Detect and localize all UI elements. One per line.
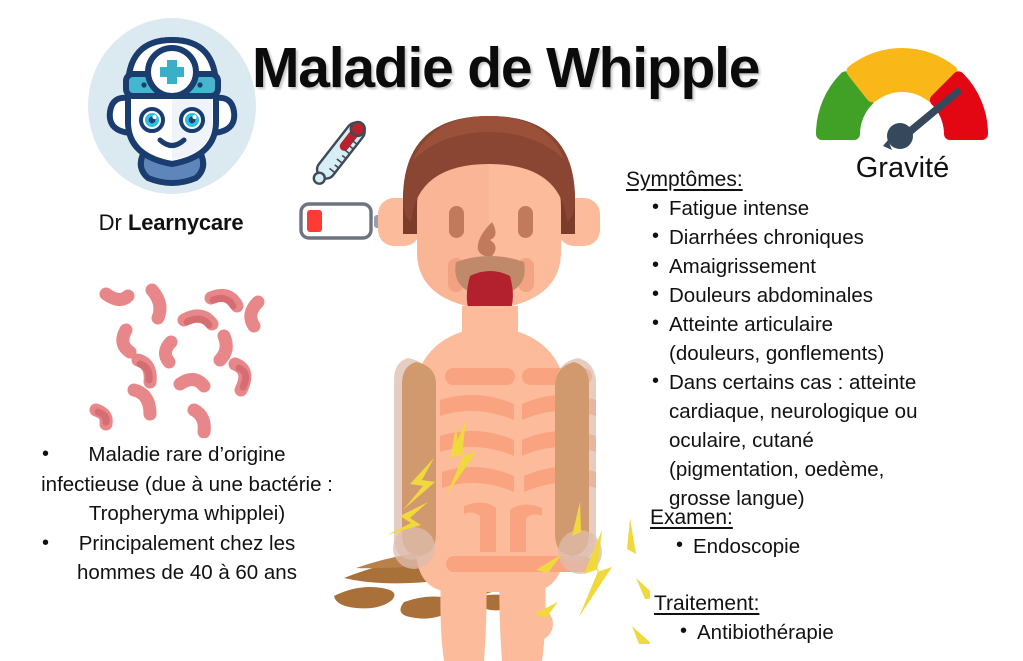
traitement-list: Antibiothérapie — [654, 618, 964, 647]
infographic-page: Dr Learnycare Maladie de Whipple Gravité — [0, 0, 1023, 661]
examen-list: Endoscopie — [650, 532, 950, 561]
symptoms-list: Fatigue intense Diarrhées chroniques Ama… — [626, 194, 926, 513]
brand-title: Learnycare — [128, 210, 243, 235]
examen-section: Examen: Endoscopie — [650, 506, 950, 561]
list-item: Diarrhées chroniques — [652, 223, 926, 252]
list-item: Atteinte articulaire (douleurs, gonfleme… — [652, 310, 926, 368]
left-fact-text: Maladie rare d’origine infectieuse (due … — [22, 440, 334, 529]
list-item: Maladie rare d’origine infectieuse (due … — [22, 440, 334, 529]
examen-heading: Examen: — [650, 506, 950, 530]
symptoms-heading: Symptômes: — [626, 168, 926, 192]
severity-gauge-block: Gravité — [800, 22, 1005, 172]
page-title: Maladie de Whipple — [252, 40, 812, 97]
list-item: Antibiothérapie — [680, 618, 964, 647]
symptoms-section: Symptômes: Fatigue intense Diarrhées chr… — [626, 168, 926, 513]
list-item: Endoscopie — [676, 532, 950, 561]
robot-doctor-avatar-icon — [88, 20, 256, 196]
traitement-section: Traitement: Antibiothérapie — [654, 592, 964, 647]
list-item: Fatigue intense — [652, 194, 926, 223]
emaciated-patient-illustration — [330, 110, 650, 661]
left-fact-text: Principalement chez les hommes de 40 à 6… — [22, 529, 334, 588]
list-item: Amaigrissement — [652, 252, 926, 281]
left-facts-list: Maladie rare d’origine infectieuse (due … — [22, 440, 334, 588]
left-facts-block: Maladie rare d’origine infectieuse (due … — [22, 440, 334, 588]
traitement-heading: Traitement: — [654, 592, 964, 616]
list-item: Principalement chez les hommes de 40 à 6… — [22, 529, 334, 588]
brand-name: Dr Learnycare — [66, 210, 276, 236]
brand-prefix: Dr — [99, 210, 122, 235]
right-arm — [555, 358, 602, 574]
brand-logo-block: Dr Learnycare — [66, 18, 276, 268]
list-item: Dans certains cas : atteinte cardiaque, … — [652, 368, 926, 513]
severity-gauge-icon — [800, 22, 1005, 157]
bacteria-rods-illustration — [72, 272, 298, 438]
list-item: Douleurs abdominales — [652, 281, 926, 310]
